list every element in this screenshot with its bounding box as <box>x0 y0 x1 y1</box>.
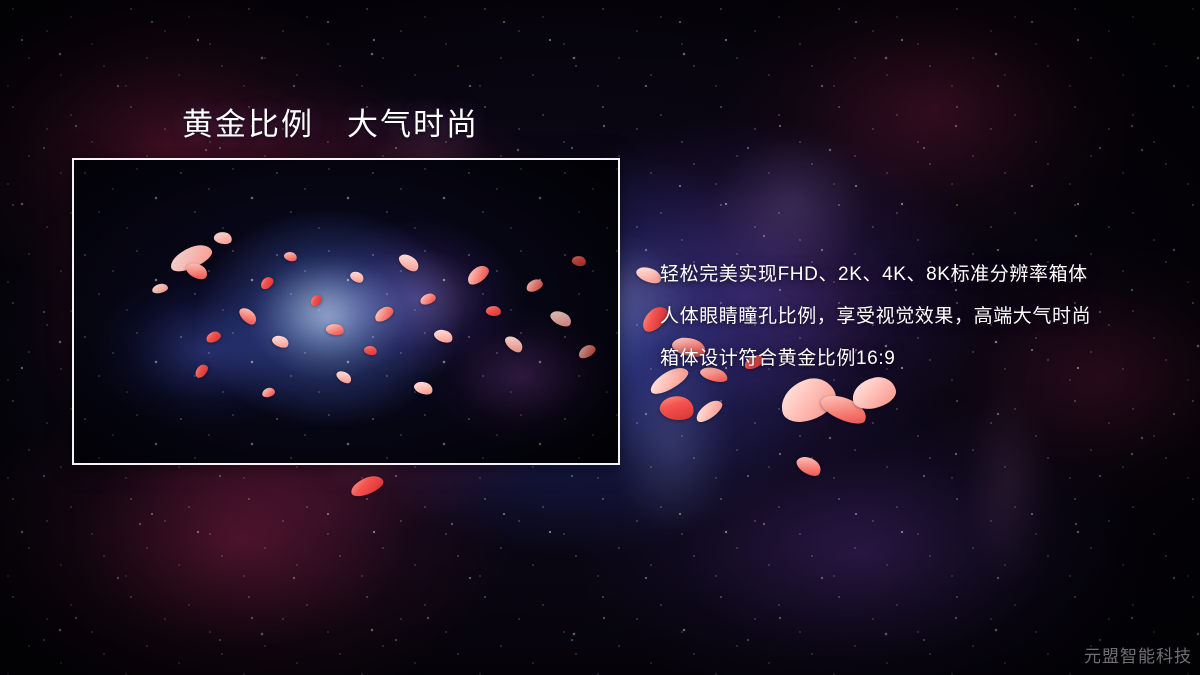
presentation-slide: 黄金比例 大气时尚 轻松完美实现FHD、2K、4K、8K标准分辨率箱体 人体眼睛… <box>0 0 1200 675</box>
photo-content <box>74 160 618 463</box>
flower-petal <box>818 389 871 430</box>
flower-petal <box>693 397 726 425</box>
slide-title: 黄金比例 大气时尚 <box>182 99 479 144</box>
flower-petal <box>658 393 696 424</box>
body-line-2: 人体眼睛瞳孔比例，享受视觉效果，高端大气时尚 <box>660 296 1180 338</box>
body-copy: 轻松完美实现FHD、2K、4K、8K标准分辨率箱体 人体眼睛瞳孔比例，享受视觉效… <box>660 254 1180 380</box>
flower-petal <box>794 452 825 480</box>
flower-petal <box>775 372 841 427</box>
body-line-3: 箱体设计符合黄金比例16:9 <box>660 338 1180 380</box>
photo-vignette <box>74 160 618 463</box>
watermark: 元盟智能科技 <box>1084 642 1192 667</box>
flower-petal <box>348 473 385 500</box>
framed-photo <box>72 158 620 465</box>
body-line-1: 轻松完美实现FHD、2K、4K、8K标准分辨率箱体 <box>660 254 1180 296</box>
